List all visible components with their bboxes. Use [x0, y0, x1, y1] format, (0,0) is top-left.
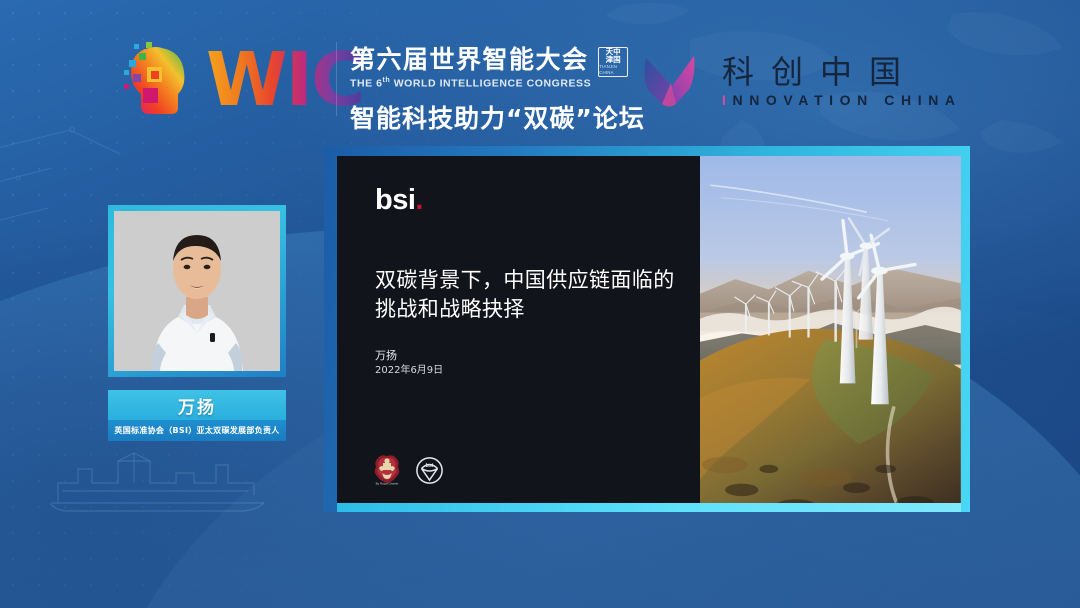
wic-wordmark: WIC — [206, 43, 363, 117]
bsi-logo: bsi. — [375, 184, 423, 217]
speaker-name: 万扬 — [178, 393, 216, 418]
slide-footer-logos: By Royal Charter bsi — [370, 453, 444, 487]
slide-frame: bsi. 双碳背景下，中国供应链面临的挑战和战略抉择 万扬 2022年6月9日 — [324, 146, 970, 512]
wic-head-pixel-logo-icon — [118, 36, 198, 124]
innovation-china-butterfly-mark-icon — [640, 50, 702, 112]
tianjin-china-stamp-icon: 天中 津国 TIANJIN CHINA — [598, 47, 628, 77]
speaker-nameplate: 万扬 英国标准协会（BSI）亚太双碳发展部负责人 — [108, 390, 286, 441]
wic-logo: WIC — [118, 36, 363, 124]
slide-text-pane: bsi. 双碳背景下，中国供应链面临的挑战和战略抉择 万扬 2022年6月9日 — [337, 156, 700, 503]
speaker-portrait — [114, 211, 280, 371]
event-header: WIC 第六届世界智能大会 THE 6th WORLD INTELLIGENCE… — [0, 0, 1080, 148]
slide-date: 2022年6月9日 — [375, 364, 443, 378]
speaker-role-bar: 英国标准协会（BSI）亚太双碳发展部负责人 — [108, 420, 286, 441]
header-divider — [336, 42, 337, 116]
innovation-china-logo: 科创中国 INNOVATION CHINA — [640, 50, 962, 112]
building-line-art — [48, 443, 278, 513]
bsi-kitemark-icon: bsi — [415, 456, 444, 485]
forum-title: 智能科技助力“双碳”论坛 — [350, 99, 645, 135]
speaker-role: 英国标准协会（BSI）亚太双碳发展部负责人 — [114, 425, 279, 436]
speaker-video[interactable] — [114, 211, 280, 371]
congress-title-en: THE 6th WORLD INTELLIGENCE CONGRESS — [350, 77, 591, 90]
slide-author: 万扬 — [375, 348, 397, 364]
speaker-camera-frame[interactable] — [108, 205, 286, 377]
svg-text:bsi: bsi — [426, 463, 434, 469]
innovation-china-en: INNOVATION CHINA — [722, 91, 962, 109]
speaker-name-bar: 万扬 — [108, 390, 286, 420]
congress-title-block: 第六届世界智能大会 THE 6th WORLD INTELLIGENCE CON… — [350, 46, 645, 135]
svg-text:By Royal Charter: By Royal Charter — [376, 482, 399, 486]
congress-title-cn: 第六届世界智能大会 — [350, 46, 591, 74]
slide-image-pane — [700, 156, 961, 503]
slide-title: 双碳背景下，中国供应链面临的挑战和战略抉择 — [375, 266, 695, 324]
innovation-china-cn: 科创中国 — [722, 54, 962, 90]
presentation-slide[interactable]: bsi. 双碳背景下，中国供应链面临的挑战和战略抉择 万扬 2022年6月9日 — [337, 156, 961, 503]
speaker-panel: 万扬 英国标准协会（BSI）亚太双碳发展部负责人 — [108, 205, 286, 441]
royal-charter-crest-icon: By Royal Charter — [370, 453, 404, 487]
wind-turbine-farm-photo — [700, 156, 961, 503]
broadcast-screen: WIC 第六届世界智能大会 THE 6th WORLD INTELLIGENCE… — [0, 0, 1080, 608]
